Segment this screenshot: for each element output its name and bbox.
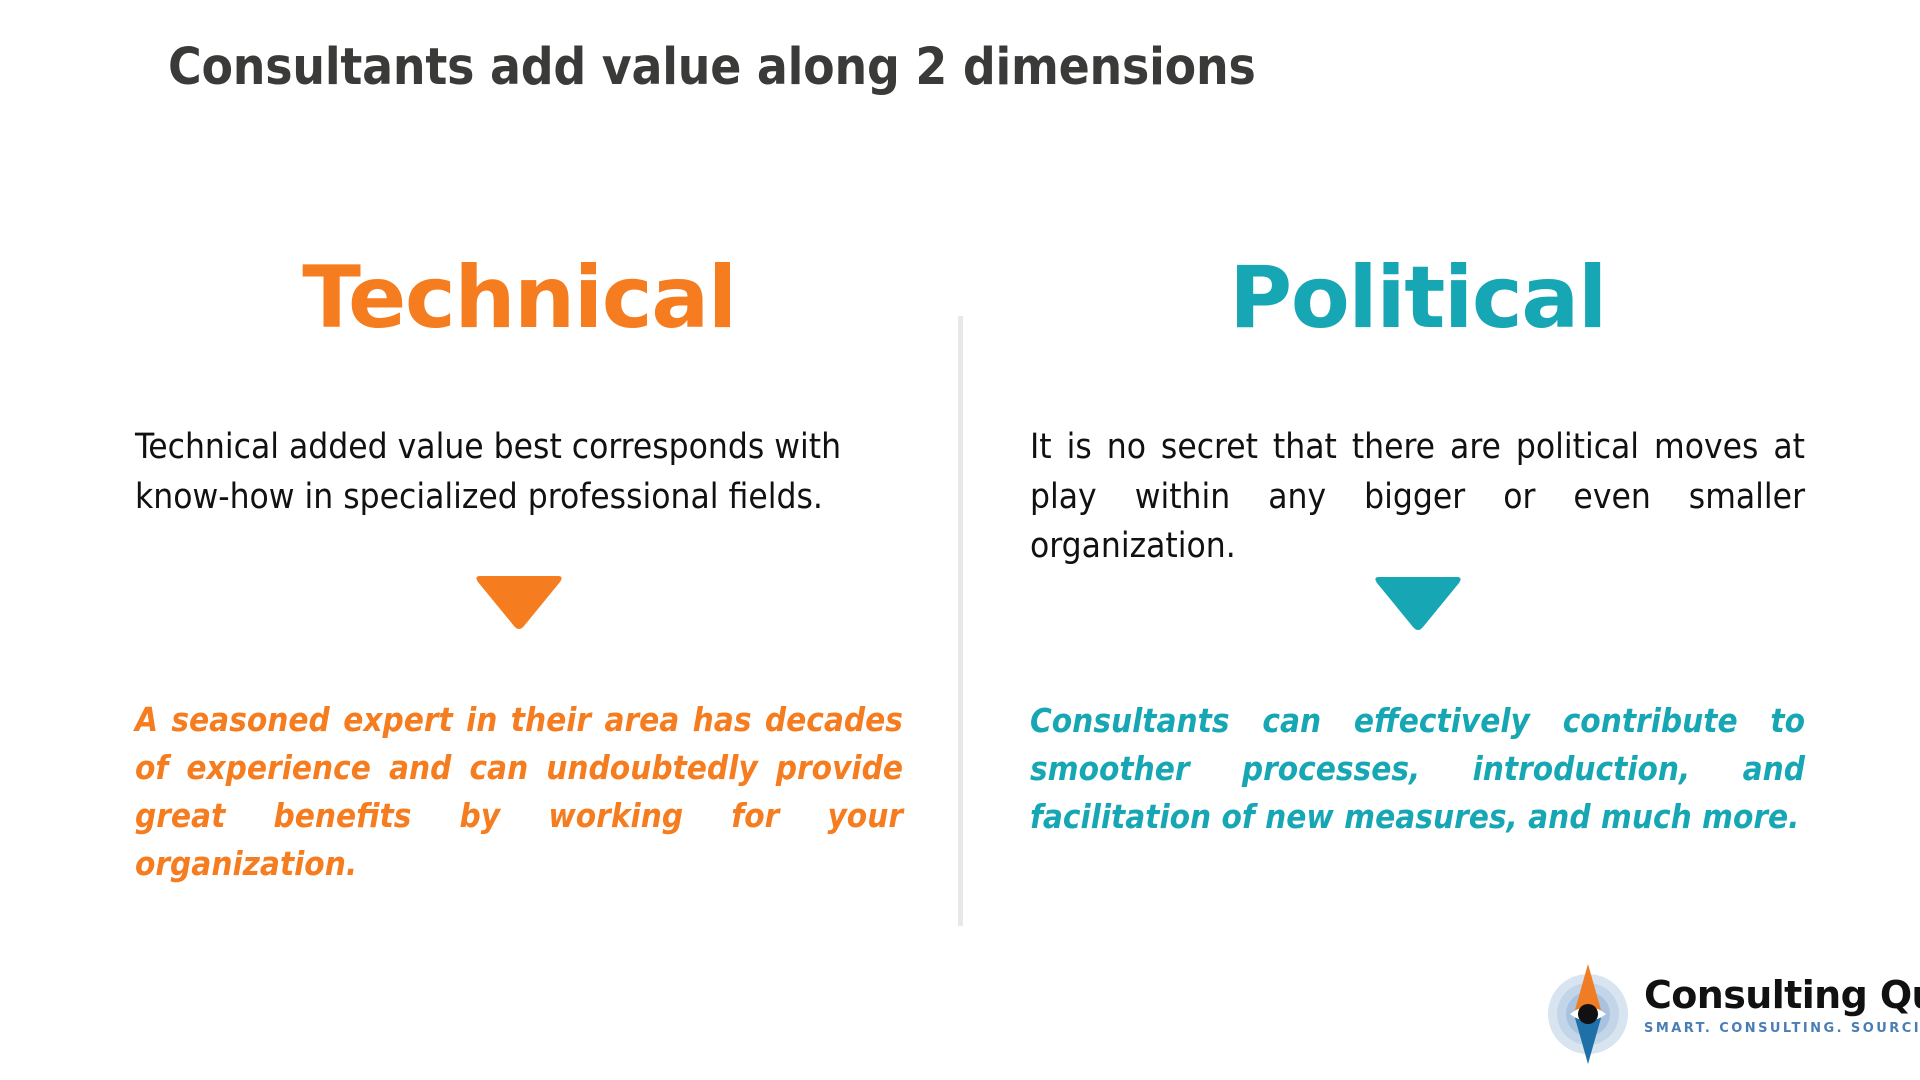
columns-container: Technical Technical added value best cor… [0,0,1920,1080]
triangle-down-icon [1373,575,1463,631]
column-technical: Technical Technical added value best cor… [135,255,903,888]
logo-tagline: SMART. CONSULTING. SOURCING. [1644,1021,1900,1036]
slide-canvas: Consultants add value along 2 dimensions… [0,0,1920,1080]
column-heading-political: Political [1030,255,1805,355]
column-political: Political It is no secret that there are… [1030,255,1805,841]
brand-logo: Consulting Quest SMART. CONSULTING. SOUR… [1540,962,1900,1066]
column-body-technical: Technical added value best corresponds w… [135,423,903,522]
column-divider [958,316,963,926]
consulting-quest-compass-icon [1540,962,1636,1066]
column-emphasis-technical: A seasoned expert in their area has deca… [135,696,903,887]
column-body-political: It is no secret that there are political… [1030,423,1805,572]
column-heading-technical: Technical [135,255,903,355]
column-emphasis-political: Consultants can effectively contribute t… [1030,697,1805,841]
arrow-container-technical [135,574,903,636]
logo-name: Consulting Quest [1644,976,1900,1014]
logo-text-block: Consulting Quest SMART. CONSULTING. SOUR… [1644,976,1900,1036]
triangle-down-icon [474,574,564,630]
arrow-container-political [1030,575,1805,637]
